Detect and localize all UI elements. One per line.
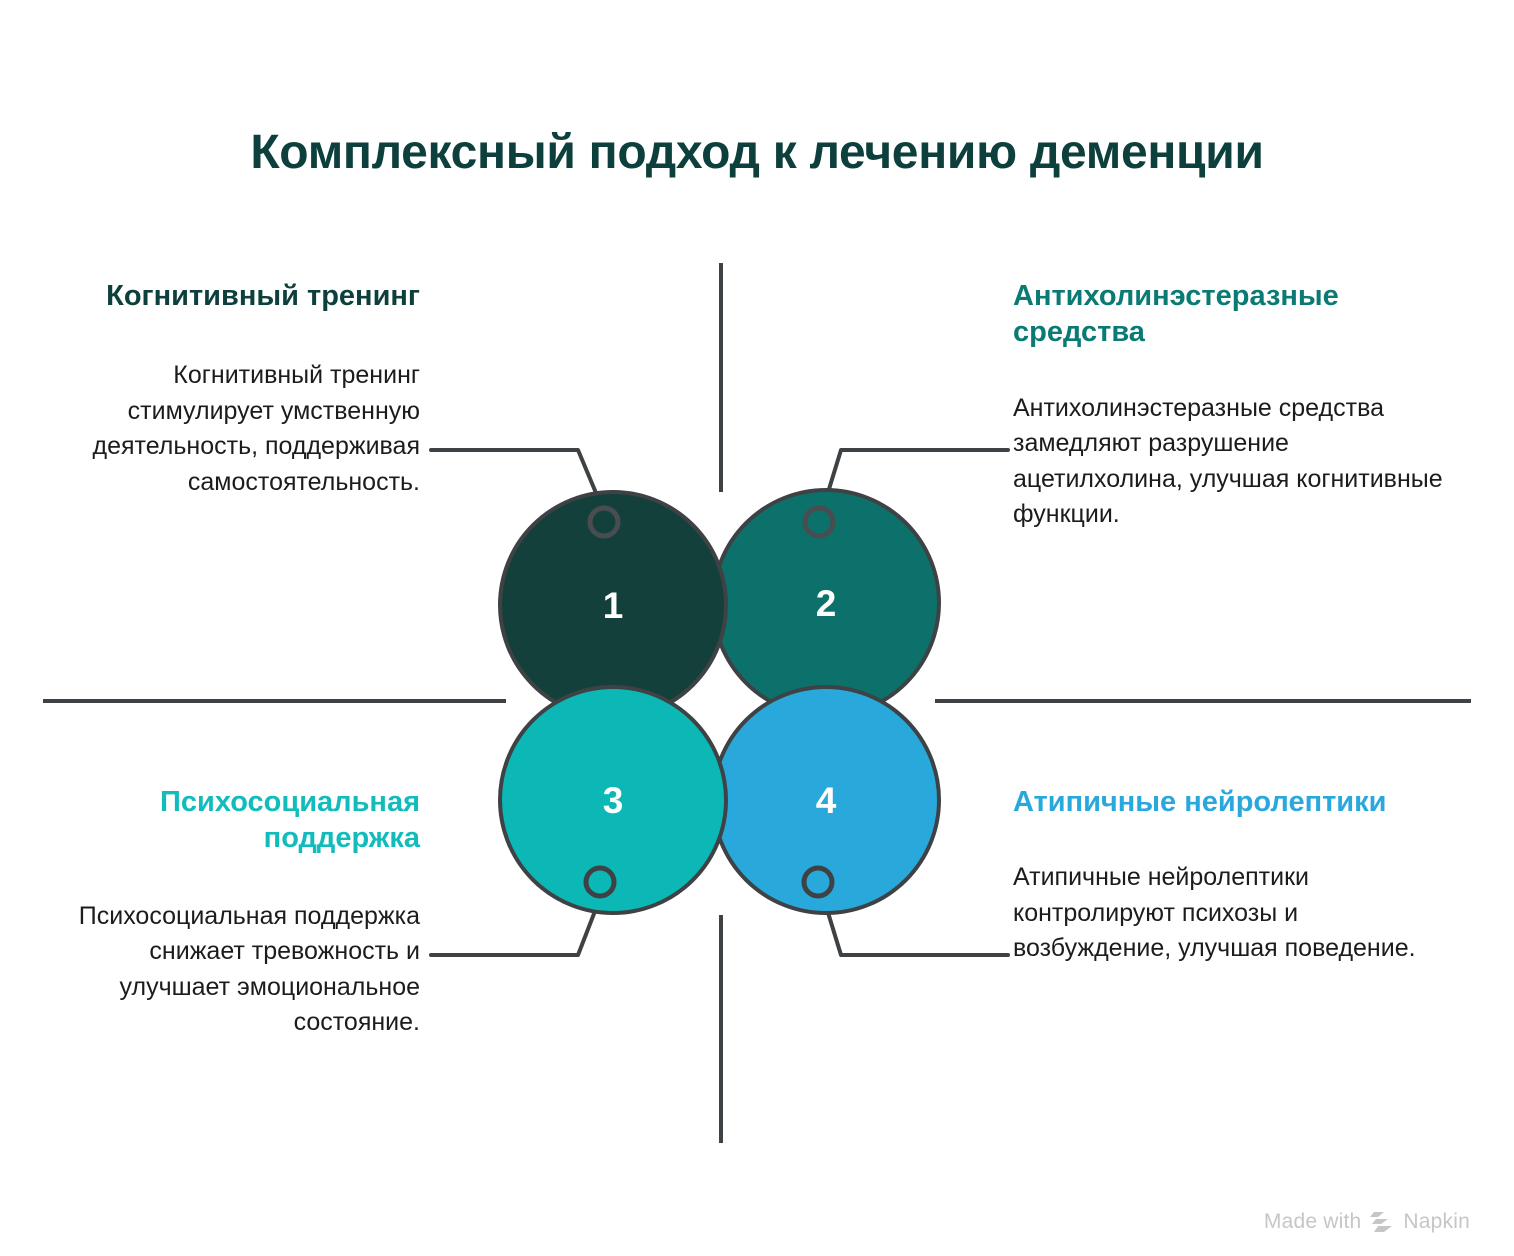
quadrant-bottom-left: Психосоциальная поддержка Психосоциальна… — [68, 784, 420, 1041]
quadrant-top-right: Антихолинэстеразные средства Антихолинэс… — [1013, 278, 1453, 533]
infographic-canvas: Комплексный подход к лечению деменции 1 … — [0, 0, 1514, 1256]
quadrant-body-1: Когнитивный тренинг стимулирует умственн… — [88, 358, 420, 500]
quadrant-body-4: Атипичные нейролептики контролируют псих… — [1013, 860, 1453, 967]
napkin-logo-icon — [1370, 1211, 1394, 1233]
quadrant-top-left: Когнитивный тренинг Когнитивный тренинг … — [88, 278, 420, 500]
circle-number-3: 3 — [583, 782, 643, 819]
napkin-watermark: Made with Napkin — [1264, 1210, 1470, 1234]
watermark-label: Made with — [1264, 1210, 1362, 1234]
diagram-artwork — [0, 0, 1514, 1256]
quadrant-body-2: Антихолинэстеразные средства замедляют р… — [1013, 391, 1453, 533]
page-title: Комплексный подход к лечению деменции — [0, 127, 1514, 180]
circle-number-2: 2 — [796, 585, 856, 622]
quadrant-heading-1: Когнитивный тренинг — [88, 278, 420, 314]
watermark-brand: Napkin — [1403, 1210, 1470, 1234]
quadrant-heading-2: Антихолинэстеразные средства — [1013, 278, 1453, 351]
circle-number-4: 4 — [796, 782, 856, 819]
quadrant-heading-4: Атипичные нейролептики — [1013, 784, 1453, 820]
quadrant-body-3: Психосоциальная поддержка снижает тревож… — [68, 899, 420, 1041]
quadrant-heading-3: Психосоциальная поддержка — [68, 784, 420, 857]
quadrant-bottom-right: Атипичные нейролептики Атипичные нейроле… — [1013, 784, 1453, 967]
circle-number-1: 1 — [583, 587, 643, 624]
